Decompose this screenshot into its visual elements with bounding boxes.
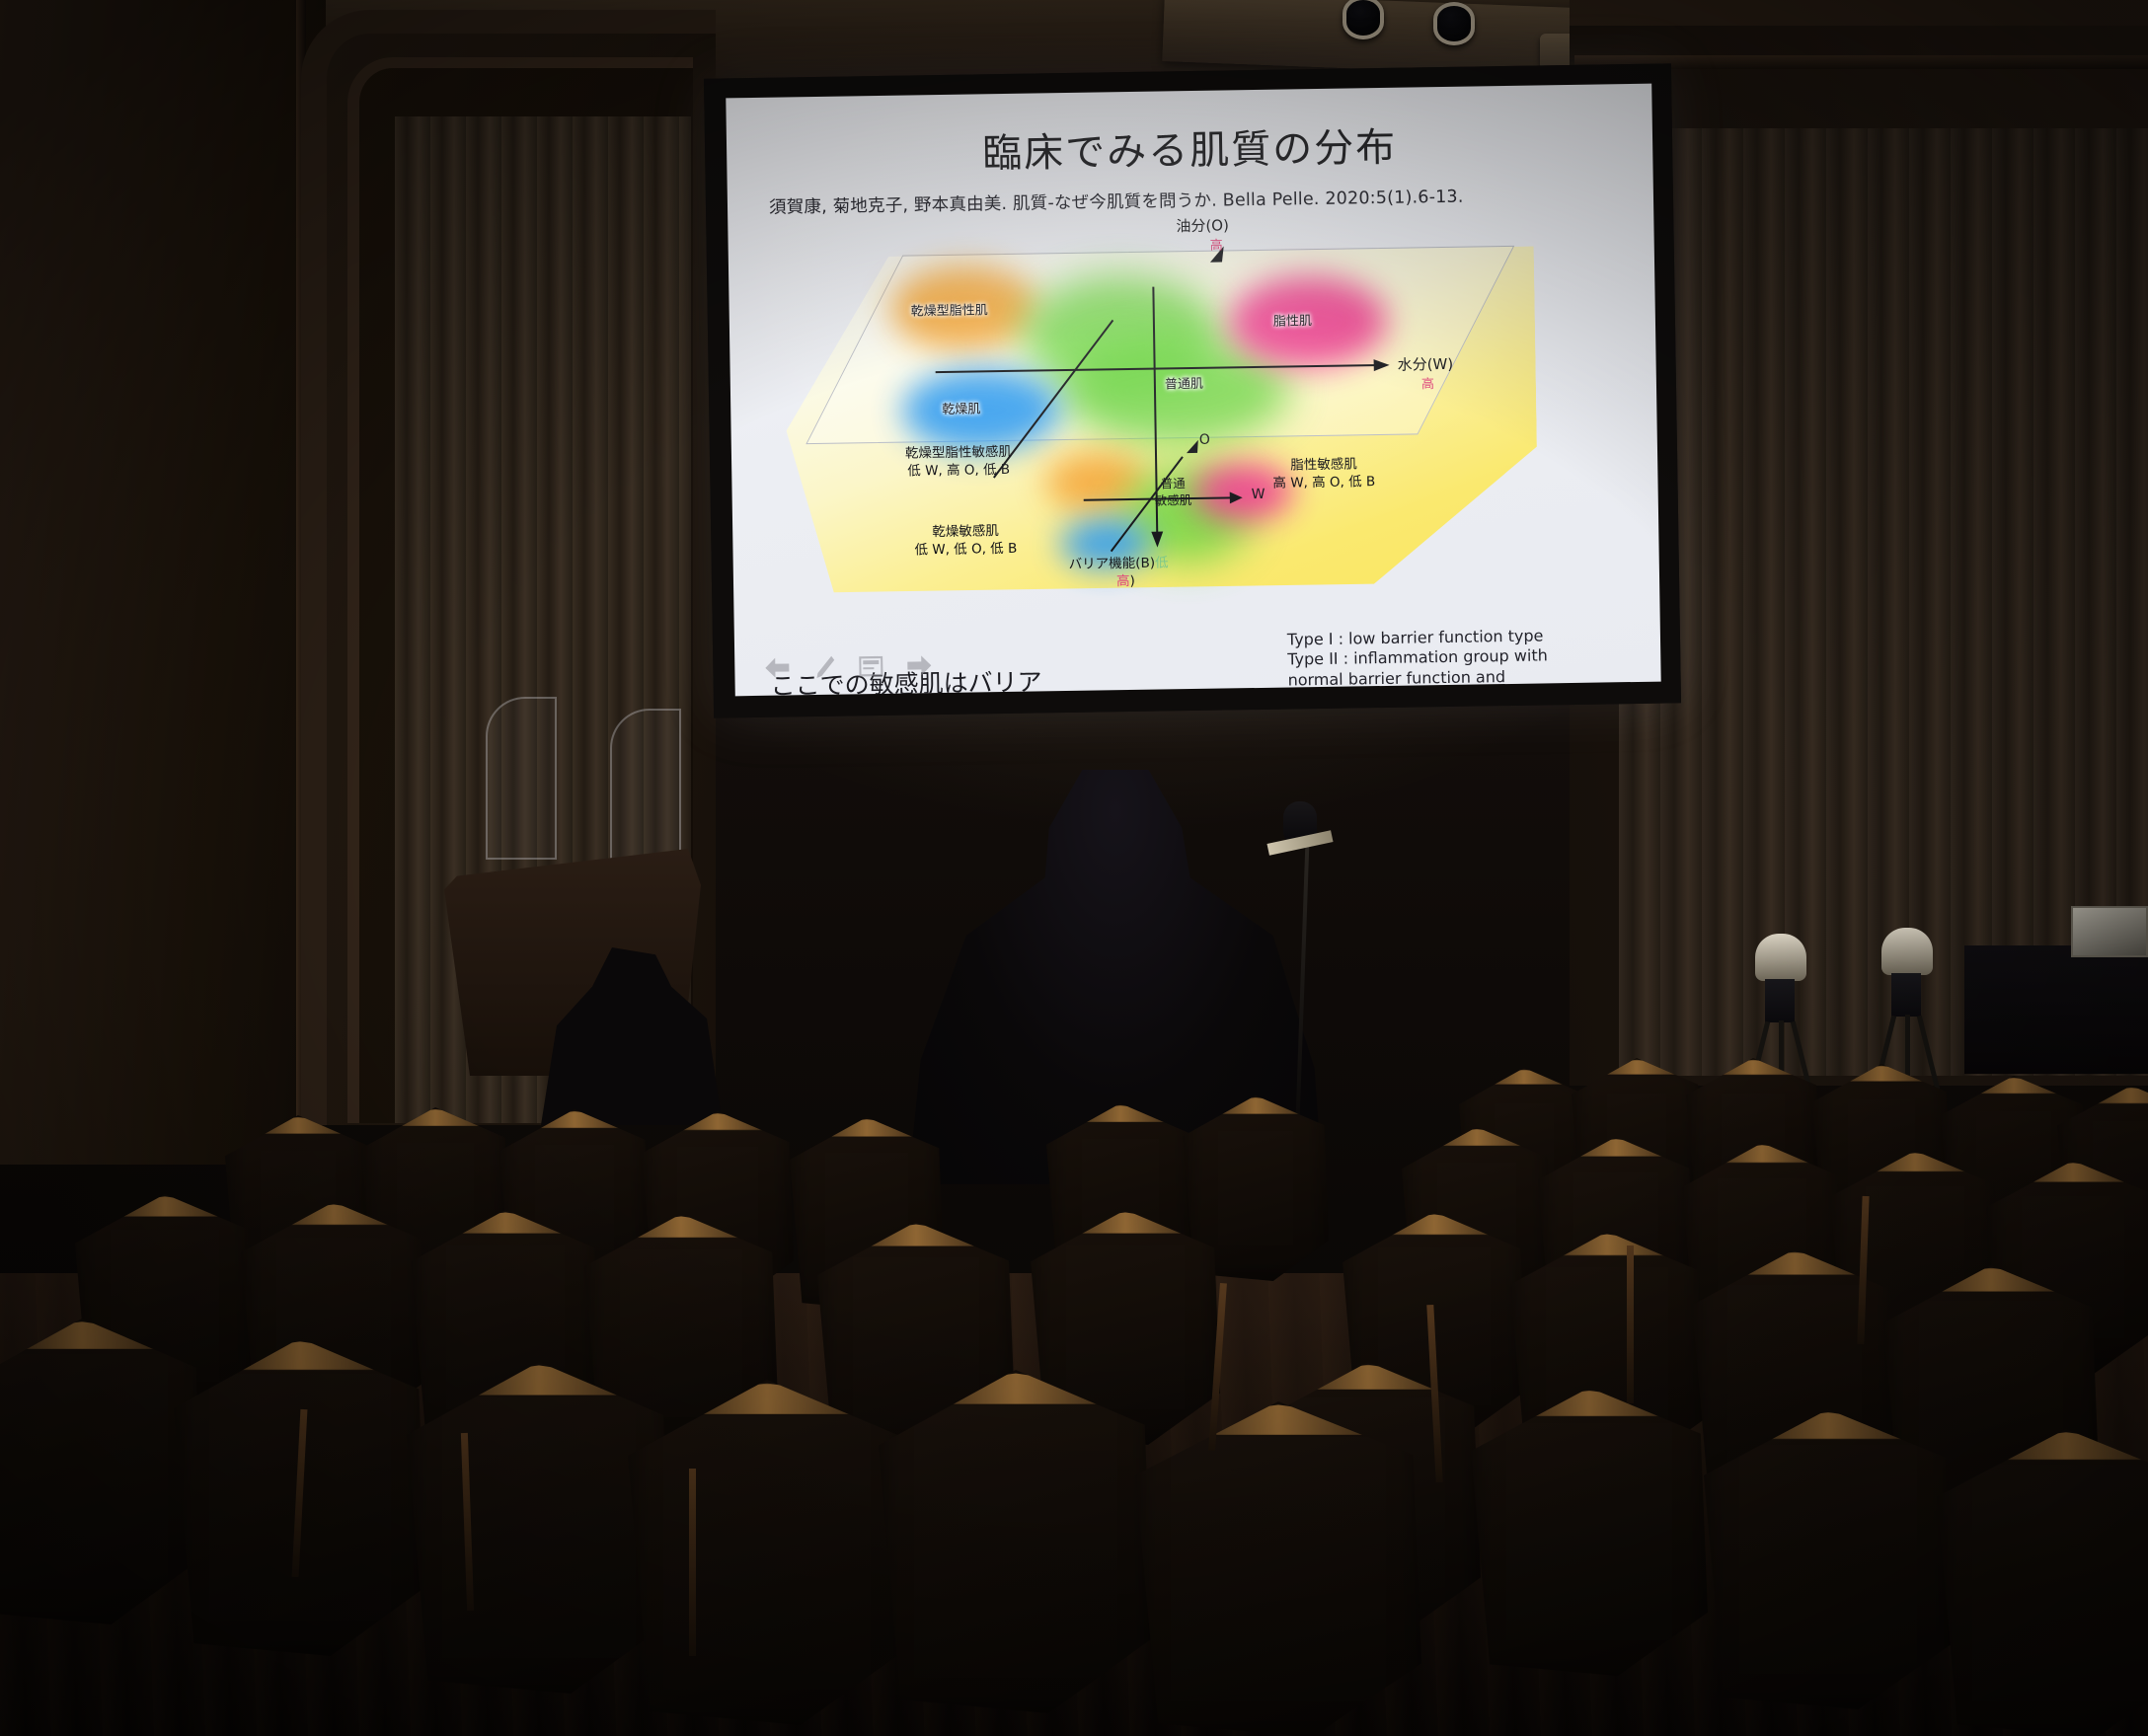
av-monitor bbox=[2071, 906, 2148, 957]
group-name: 乾燥型脂性敏感肌 bbox=[905, 443, 1012, 463]
axis-label-oil: 油分(O) bbox=[1176, 214, 1229, 236]
group-normal-sensitive: 普通 敏感肌 bbox=[1154, 476, 1191, 509]
slide-title: 臨床でみる肌質の分布 bbox=[727, 112, 1653, 184]
group-values: 低 W, 高 O, 低 B bbox=[905, 461, 1012, 481]
podium-acrylic-shield-right bbox=[610, 709, 681, 862]
axis-label-water: 水分(W) bbox=[1397, 353, 1453, 375]
av-table bbox=[1964, 945, 2148, 1074]
projection-screen: 臨床でみる肌質の分布 須賀康, 菊地克子, 野本真由美. 肌質-なぜ今肌質を問う… bbox=[704, 63, 1681, 717]
conference-hall-scene: 臨床でみる肌質の分布 須賀康, 菊地克子, 野本真由美. 肌質-なぜ今肌質を問う… bbox=[0, 0, 2148, 1736]
axis-label-oil-text: 油分(O) bbox=[1176, 216, 1229, 235]
axis-label-barrier-low: 低 bbox=[1155, 555, 1169, 570]
group-dry-sensitive: 乾燥敏感肌 低 W, 低 O, 低 B bbox=[914, 522, 1017, 560]
group-name: 乾燥敏感肌 bbox=[914, 522, 1017, 542]
camera-head-icon bbox=[1881, 928, 1933, 975]
label-oily-skin: 脂性肌 bbox=[1273, 310, 1312, 330]
audience-chair[interactable] bbox=[0, 1319, 203, 1624]
axis-label-inner-w: W bbox=[1252, 487, 1266, 502]
tripod-body bbox=[1765, 979, 1795, 1022]
axis-label-barrier-high: 高 bbox=[1116, 573, 1130, 589]
group-name-line1: 普通 bbox=[1154, 476, 1191, 492]
slideshow-nav-bar[interactable] bbox=[764, 653, 932, 680]
axis-label-barrier-text: バリア機能(B) bbox=[1069, 556, 1156, 572]
next-slide-icon[interactable] bbox=[906, 654, 932, 676]
axis-label-water-high: 高 bbox=[1421, 373, 1434, 392]
skin-type-distribution-diagram: 油分(O) 高 水分(W) 高 バリア機能(B)低 高) O W 乾燥型脂性肌 … bbox=[763, 210, 1638, 619]
label-dry-skin: 乾燥肌 bbox=[942, 398, 980, 417]
chair-leg bbox=[1627, 1245, 1634, 1403]
axis-label-inner-o: O bbox=[1199, 432, 1210, 448]
presentation-slide[interactable]: 臨床でみる肌質の分布 須賀康, 菊地克子, 野本真由美. 肌質-なぜ今肌質を問う… bbox=[726, 84, 1660, 697]
ceiling-spotlight-icon bbox=[1342, 0, 1384, 39]
ceiling-spotlight-icon bbox=[1433, 2, 1475, 45]
axis-arrow-oil-lower bbox=[1186, 440, 1200, 455]
group-name: 脂性敏感肌 bbox=[1272, 455, 1375, 475]
label-normal-skin: 普通肌 bbox=[1165, 373, 1203, 393]
camera-head-icon bbox=[1755, 934, 1806, 981]
axis-arrow-barrier-down bbox=[1149, 531, 1165, 549]
label-dry-oily-skin: 乾燥型脂性肌 bbox=[911, 299, 988, 319]
axis-label-oil-high: 高 bbox=[1210, 235, 1223, 254]
axis-arrow-water-lower bbox=[1230, 491, 1245, 504]
chair-leg bbox=[689, 1469, 696, 1656]
previous-slide-icon[interactable] bbox=[764, 656, 790, 678]
paren: ) bbox=[1129, 573, 1135, 589]
podium-acrylic-shield-left bbox=[486, 697, 557, 860]
axis-label-barrier-high-wrap: 高) bbox=[1116, 569, 1135, 589]
group-dry-oily-sensitive: 乾燥型脂性敏感肌 低 W, 高 O, 低 B bbox=[905, 443, 1013, 481]
group-name-line2: 敏感肌 bbox=[1155, 492, 1192, 509]
group-values: 高 W, 高 O, 低 B bbox=[1272, 473, 1375, 492]
left-wall-panel bbox=[0, 0, 326, 1165]
tripod-body bbox=[1891, 973, 1921, 1017]
group-oily-sensitive: 脂性敏感肌 高 W, 高 O, 低 B bbox=[1272, 455, 1375, 492]
slide-menu-icon[interactable] bbox=[859, 655, 882, 677]
pen-tool-icon[interactable] bbox=[813, 655, 835, 679]
axis-arrow-water-upper bbox=[1373, 357, 1391, 373]
group-values: 低 W, 低 O, 低 B bbox=[914, 540, 1017, 560]
